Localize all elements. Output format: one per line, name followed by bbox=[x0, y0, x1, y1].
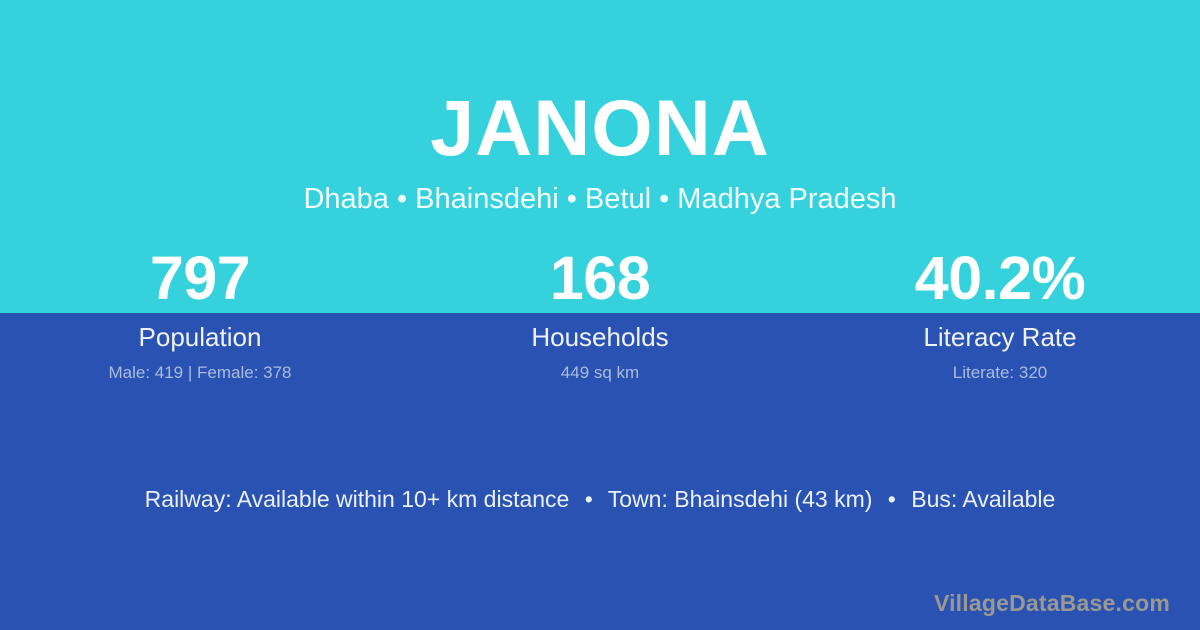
amenity-railway: Railway: Available within 10+ km distanc… bbox=[145, 486, 570, 512]
stat-literacy-rate: 40.2% Literacy Rate Literate: 320 bbox=[800, 248, 1200, 382]
stat-sublabel: Literate: 320 bbox=[800, 364, 1200, 383]
site-watermark: VillageDataBase.com bbox=[934, 591, 1170, 616]
bullet-separator-icon: • bbox=[879, 485, 905, 514]
stat-label: Households bbox=[400, 323, 800, 352]
amenity-nearest-town: Town: Bhainsdehi (43 km) bbox=[608, 486, 873, 512]
stat-value: 168 bbox=[400, 248, 800, 309]
bullet-separator-icon: • bbox=[576, 485, 602, 514]
amenity-bus: Bus: Available bbox=[911, 486, 1055, 512]
stat-households: 168 Households 449 sq km bbox=[400, 248, 800, 382]
stat-sublabel: Male: 419 | Female: 378 bbox=[0, 364, 400, 383]
stat-value: 40.2% bbox=[800, 248, 1200, 309]
stat-sublabel: 449 sq km bbox=[400, 364, 800, 383]
amenities-line: Railway: Available within 10+ km distanc… bbox=[0, 485, 1200, 514]
village-info-card: JANONA Dhaba • Bhainsdehi • Betul • Madh… bbox=[0, 0, 1200, 630]
stat-population: 797 Population Male: 419 | Female: 378 bbox=[0, 248, 400, 382]
stat-label: Population bbox=[0, 323, 400, 352]
page-title: JANONA bbox=[0, 88, 1200, 167]
breadcrumb: Dhaba • Bhainsdehi • Betul • Madhya Prad… bbox=[0, 181, 1200, 219]
stats-row: 797 Population Male: 419 | Female: 378 1… bbox=[0, 248, 1200, 382]
stat-label: Literacy Rate bbox=[800, 323, 1200, 352]
stat-value: 797 bbox=[0, 248, 400, 309]
